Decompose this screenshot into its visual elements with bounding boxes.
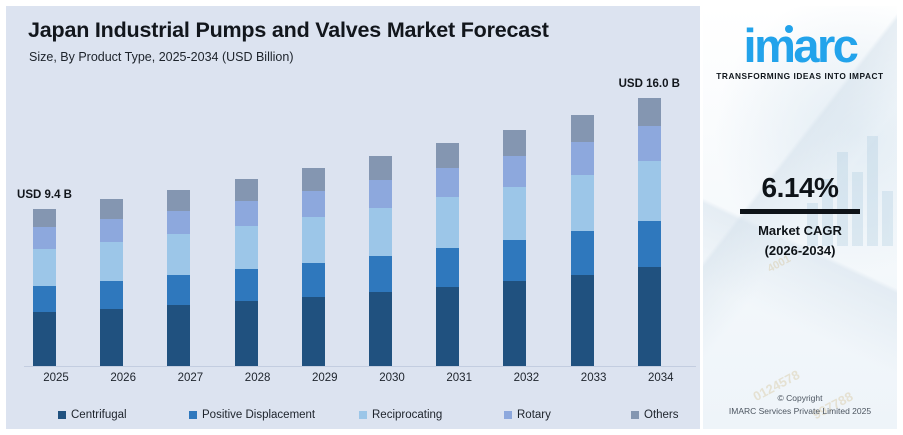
bar-2034[interactable] (638, 98, 661, 366)
x-axis-label-2030: 2030 (362, 372, 422, 384)
bar-segment-centrifugal[interactable] (436, 287, 459, 366)
legend-swatch-icon (58, 411, 66, 419)
bar-segment-reciprocating[interactable] (571, 175, 594, 232)
legend-swatch-icon (189, 411, 197, 419)
legend-swatch-icon (359, 411, 367, 419)
copyright-line-1: © Copyright (703, 392, 897, 404)
bar-segment-positive-displacement[interactable] (436, 248, 459, 287)
bar-segment-others[interactable] (302, 168, 325, 190)
legend-item-rotary[interactable]: Rotary (504, 409, 551, 421)
bar-segment-others[interactable] (235, 179, 258, 201)
bar-segment-others[interactable] (100, 199, 123, 219)
bar-2028[interactable] (235, 179, 258, 366)
bar-segment-reciprocating[interactable] (100, 242, 123, 281)
bar-segment-rotary[interactable] (436, 168, 459, 197)
bar-segment-rotary[interactable] (33, 227, 56, 249)
bar-segment-positive-displacement[interactable] (638, 221, 661, 268)
bar-segment-centrifugal[interactable] (235, 301, 258, 366)
bar-segment-positive-displacement[interactable] (167, 275, 190, 305)
bar-segment-others[interactable] (33, 209, 56, 227)
legend-label: Positive Displacement (202, 409, 315, 421)
bar-segment-rotary[interactable] (235, 201, 258, 226)
bar-segment-rotary[interactable] (100, 219, 123, 242)
stacked-bar-plot: 2025202620272028202920302031203220332034… (6, 6, 700, 429)
x-axis-label-2031: 2031 (429, 372, 489, 384)
bar-segment-rotary[interactable] (167, 211, 190, 235)
bar-2033[interactable] (571, 115, 594, 366)
bar-segment-reciprocating[interactable] (638, 161, 661, 221)
x-axis-label-2027: 2027 (160, 372, 220, 384)
bar-2026[interactable] (100, 199, 123, 366)
legend-swatch-icon (631, 411, 639, 419)
bar-segment-rotary[interactable] (369, 180, 392, 208)
legend-item-reciprocating[interactable]: Reciprocating (359, 409, 442, 421)
bar-segment-others[interactable] (503, 130, 526, 156)
x-axis-label-2028: 2028 (228, 372, 288, 384)
legend-item-positive-displacement[interactable]: Positive Displacement (189, 409, 315, 421)
copyright-line-2: IMARC Services Private Limited 2025 (703, 405, 897, 417)
bar-segment-centrifugal[interactable] (167, 305, 190, 366)
legend-swatch-icon (504, 411, 512, 419)
legend-label: Others (644, 409, 679, 421)
bar-segment-centrifugal[interactable] (638, 267, 661, 365)
bar-segment-centrifugal[interactable] (503, 281, 526, 366)
cagr-block: 6.14% Market CAGR (2026-2034) (703, 172, 897, 260)
bar-segment-reciprocating[interactable] (369, 208, 392, 256)
value-annotation-2025: USD 9.4 B (17, 189, 72, 201)
bar-segment-others[interactable] (638, 98, 661, 126)
bar-segment-centrifugal[interactable] (33, 312, 56, 366)
x-axis-label-2026: 2026 (93, 372, 153, 384)
bar-segment-rotary[interactable] (503, 156, 526, 187)
brand-panel: 0124578 997788 4001 imarc TRANSFORMING I… (703, 6, 897, 429)
legend-label: Reciprocating (372, 409, 442, 421)
x-axis-label-2025: 2025 (26, 372, 86, 384)
bar-2025[interactable] (33, 209, 56, 366)
bar-segment-others[interactable] (167, 190, 190, 210)
bar-segment-rotary[interactable] (302, 191, 325, 217)
cagr-label-period: (2026-2034) (703, 241, 897, 261)
legend-item-others[interactable]: Others (631, 409, 679, 421)
bar-segment-centrifugal[interactable] (100, 309, 123, 366)
bar-segment-positive-displacement[interactable] (571, 231, 594, 275)
bar-2032[interactable] (503, 130, 526, 366)
bar-segment-reciprocating[interactable] (436, 197, 459, 248)
bar-segment-reciprocating[interactable] (235, 226, 258, 269)
bar-segment-positive-displacement[interactable] (235, 269, 258, 301)
x-axis-label-2033: 2033 (564, 372, 624, 384)
x-axis-label-2029: 2029 (295, 372, 355, 384)
bar-segment-positive-displacement[interactable] (302, 263, 325, 297)
bar-segment-rotary[interactable] (571, 142, 594, 174)
bar-segment-others[interactable] (571, 115, 594, 142)
cagr-value: 6.14% (703, 172, 897, 204)
bar-2027[interactable] (167, 190, 190, 366)
imarc-logo: imarc TRANSFORMING IDEAS INTO IMPACT (703, 22, 897, 81)
bar-segment-reciprocating[interactable] (33, 249, 56, 286)
bar-segment-others[interactable] (436, 143, 459, 168)
bar-segment-positive-displacement[interactable] (503, 240, 526, 281)
chart-screenshot: Japan Industrial Pumps and Valves Market… (0, 0, 903, 435)
axis-baseline (24, 366, 696, 367)
legend-item-centrifugal[interactable]: Centrifugal (58, 409, 127, 421)
bar-segment-positive-displacement[interactable] (369, 256, 392, 292)
logo-wordmark: imarc (744, 22, 857, 69)
logo-tagline: TRANSFORMING IDEAS INTO IMPACT (703, 71, 897, 81)
bar-2029[interactable] (302, 168, 325, 366)
chart-legend: CentrifugalPositive DisplacementReciproc… (6, 404, 700, 426)
bar-segment-reciprocating[interactable] (167, 234, 190, 275)
legend-label: Centrifugal (71, 409, 127, 421)
bar-segment-reciprocating[interactable] (302, 217, 325, 263)
bar-segment-rotary[interactable] (638, 126, 661, 161)
bar-segment-positive-displacement[interactable] (100, 281, 123, 309)
bar-segment-centrifugal[interactable] (302, 297, 325, 366)
bar-segment-positive-displacement[interactable] (33, 286, 56, 313)
chart-panel: Japan Industrial Pumps and Valves Market… (6, 6, 700, 429)
bar-segment-reciprocating[interactable] (503, 187, 526, 241)
bar-2030[interactable] (369, 156, 392, 366)
bar-segment-centrifugal[interactable] (369, 292, 392, 366)
bar-segment-others[interactable] (369, 156, 392, 180)
bar-2031[interactable] (436, 143, 459, 366)
x-axis-label-2034: 2034 (631, 372, 691, 384)
logo-dot-icon (785, 25, 793, 33)
bar-segment-centrifugal[interactable] (571, 275, 594, 366)
cagr-divider (740, 209, 860, 214)
value-annotation-2034: USD 16.0 B (619, 78, 680, 90)
copyright-block: © Copyright IMARC Services Private Limit… (703, 392, 897, 417)
cagr-label-primary: Market CAGR (703, 221, 897, 241)
legend-label: Rotary (517, 409, 551, 421)
x-axis-label-2032: 2032 (496, 372, 556, 384)
